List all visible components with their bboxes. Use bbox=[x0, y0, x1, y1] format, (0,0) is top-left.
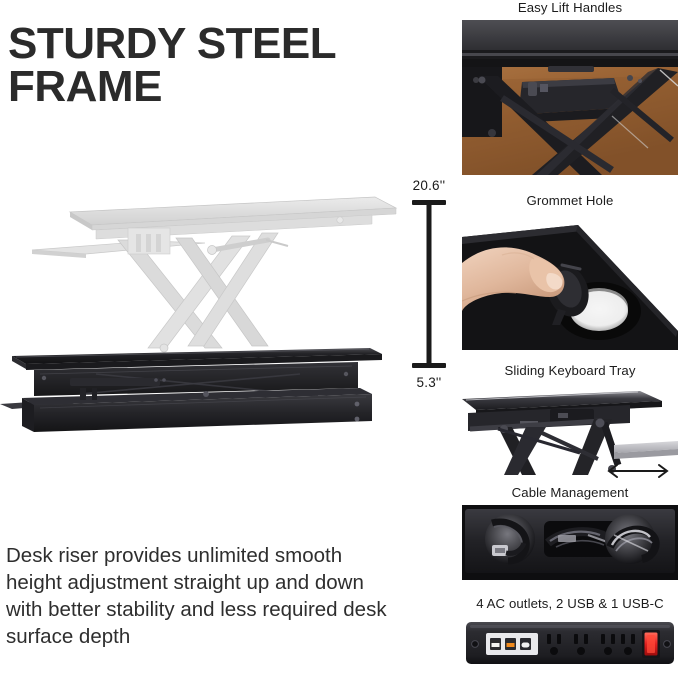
min-height-label: 5.3'' bbox=[398, 375, 460, 390]
description-text: Desk riser provides unlimited smooth hei… bbox=[6, 542, 398, 650]
page-title: STURDY STEEL FRAME bbox=[8, 22, 428, 108]
max-height-label: 20.6'' bbox=[398, 178, 460, 193]
height-range-callout: 20.6'' 5.3'' bbox=[398, 178, 460, 390]
grommet-hole-photo bbox=[462, 213, 678, 350]
feature-title: Cable Management bbox=[462, 485, 678, 501]
feature-title: 4 AC outlets, 2 USB & 1 USB-C bbox=[462, 596, 678, 612]
keyboard-tray-photo bbox=[462, 383, 678, 486]
feature-title: Sliding Keyboard Tray bbox=[462, 363, 678, 379]
lift-handle-photo bbox=[462, 20, 678, 175]
feature-title: Easy Lift Handles bbox=[462, 0, 678, 16]
power-strip-photo bbox=[462, 616, 678, 672]
hero-product-image bbox=[0, 188, 400, 440]
desk-riser-diagram bbox=[0, 188, 400, 440]
solid-collapsed-position bbox=[0, 348, 382, 432]
dimension-bottom-cap bbox=[412, 363, 446, 368]
ghost-raised-position bbox=[32, 197, 396, 352]
feature-panel-power-strip: 4 AC outlets, 2 USB & 1 USB-C bbox=[462, 596, 678, 672]
feature-panel-easy-lift-handles: Easy Lift Handles bbox=[462, 0, 678, 175]
feature-panel-grommet-hole: Grommet Hole bbox=[462, 193, 678, 350]
usb-a-port-1 bbox=[492, 643, 500, 647]
feature-title: Grommet Hole bbox=[462, 193, 678, 209]
usb-a-port-2-fast-charge bbox=[507, 643, 515, 647]
feature-panel-sliding-keyboard-tray: Sliding Keyboard Tray bbox=[462, 363, 678, 486]
power-switch bbox=[642, 630, 660, 658]
dimension-stem bbox=[427, 200, 432, 368]
feature-panel-cable-management: Cable Management bbox=[462, 485, 678, 580]
left-grommet bbox=[485, 514, 535, 564]
product-infographic: STURDY STEEL FRAME bbox=[0, 0, 679, 675]
cable-management-photo bbox=[462, 505, 678, 580]
usb-port-block bbox=[486, 633, 538, 655]
usb-c-port bbox=[522, 642, 530, 647]
